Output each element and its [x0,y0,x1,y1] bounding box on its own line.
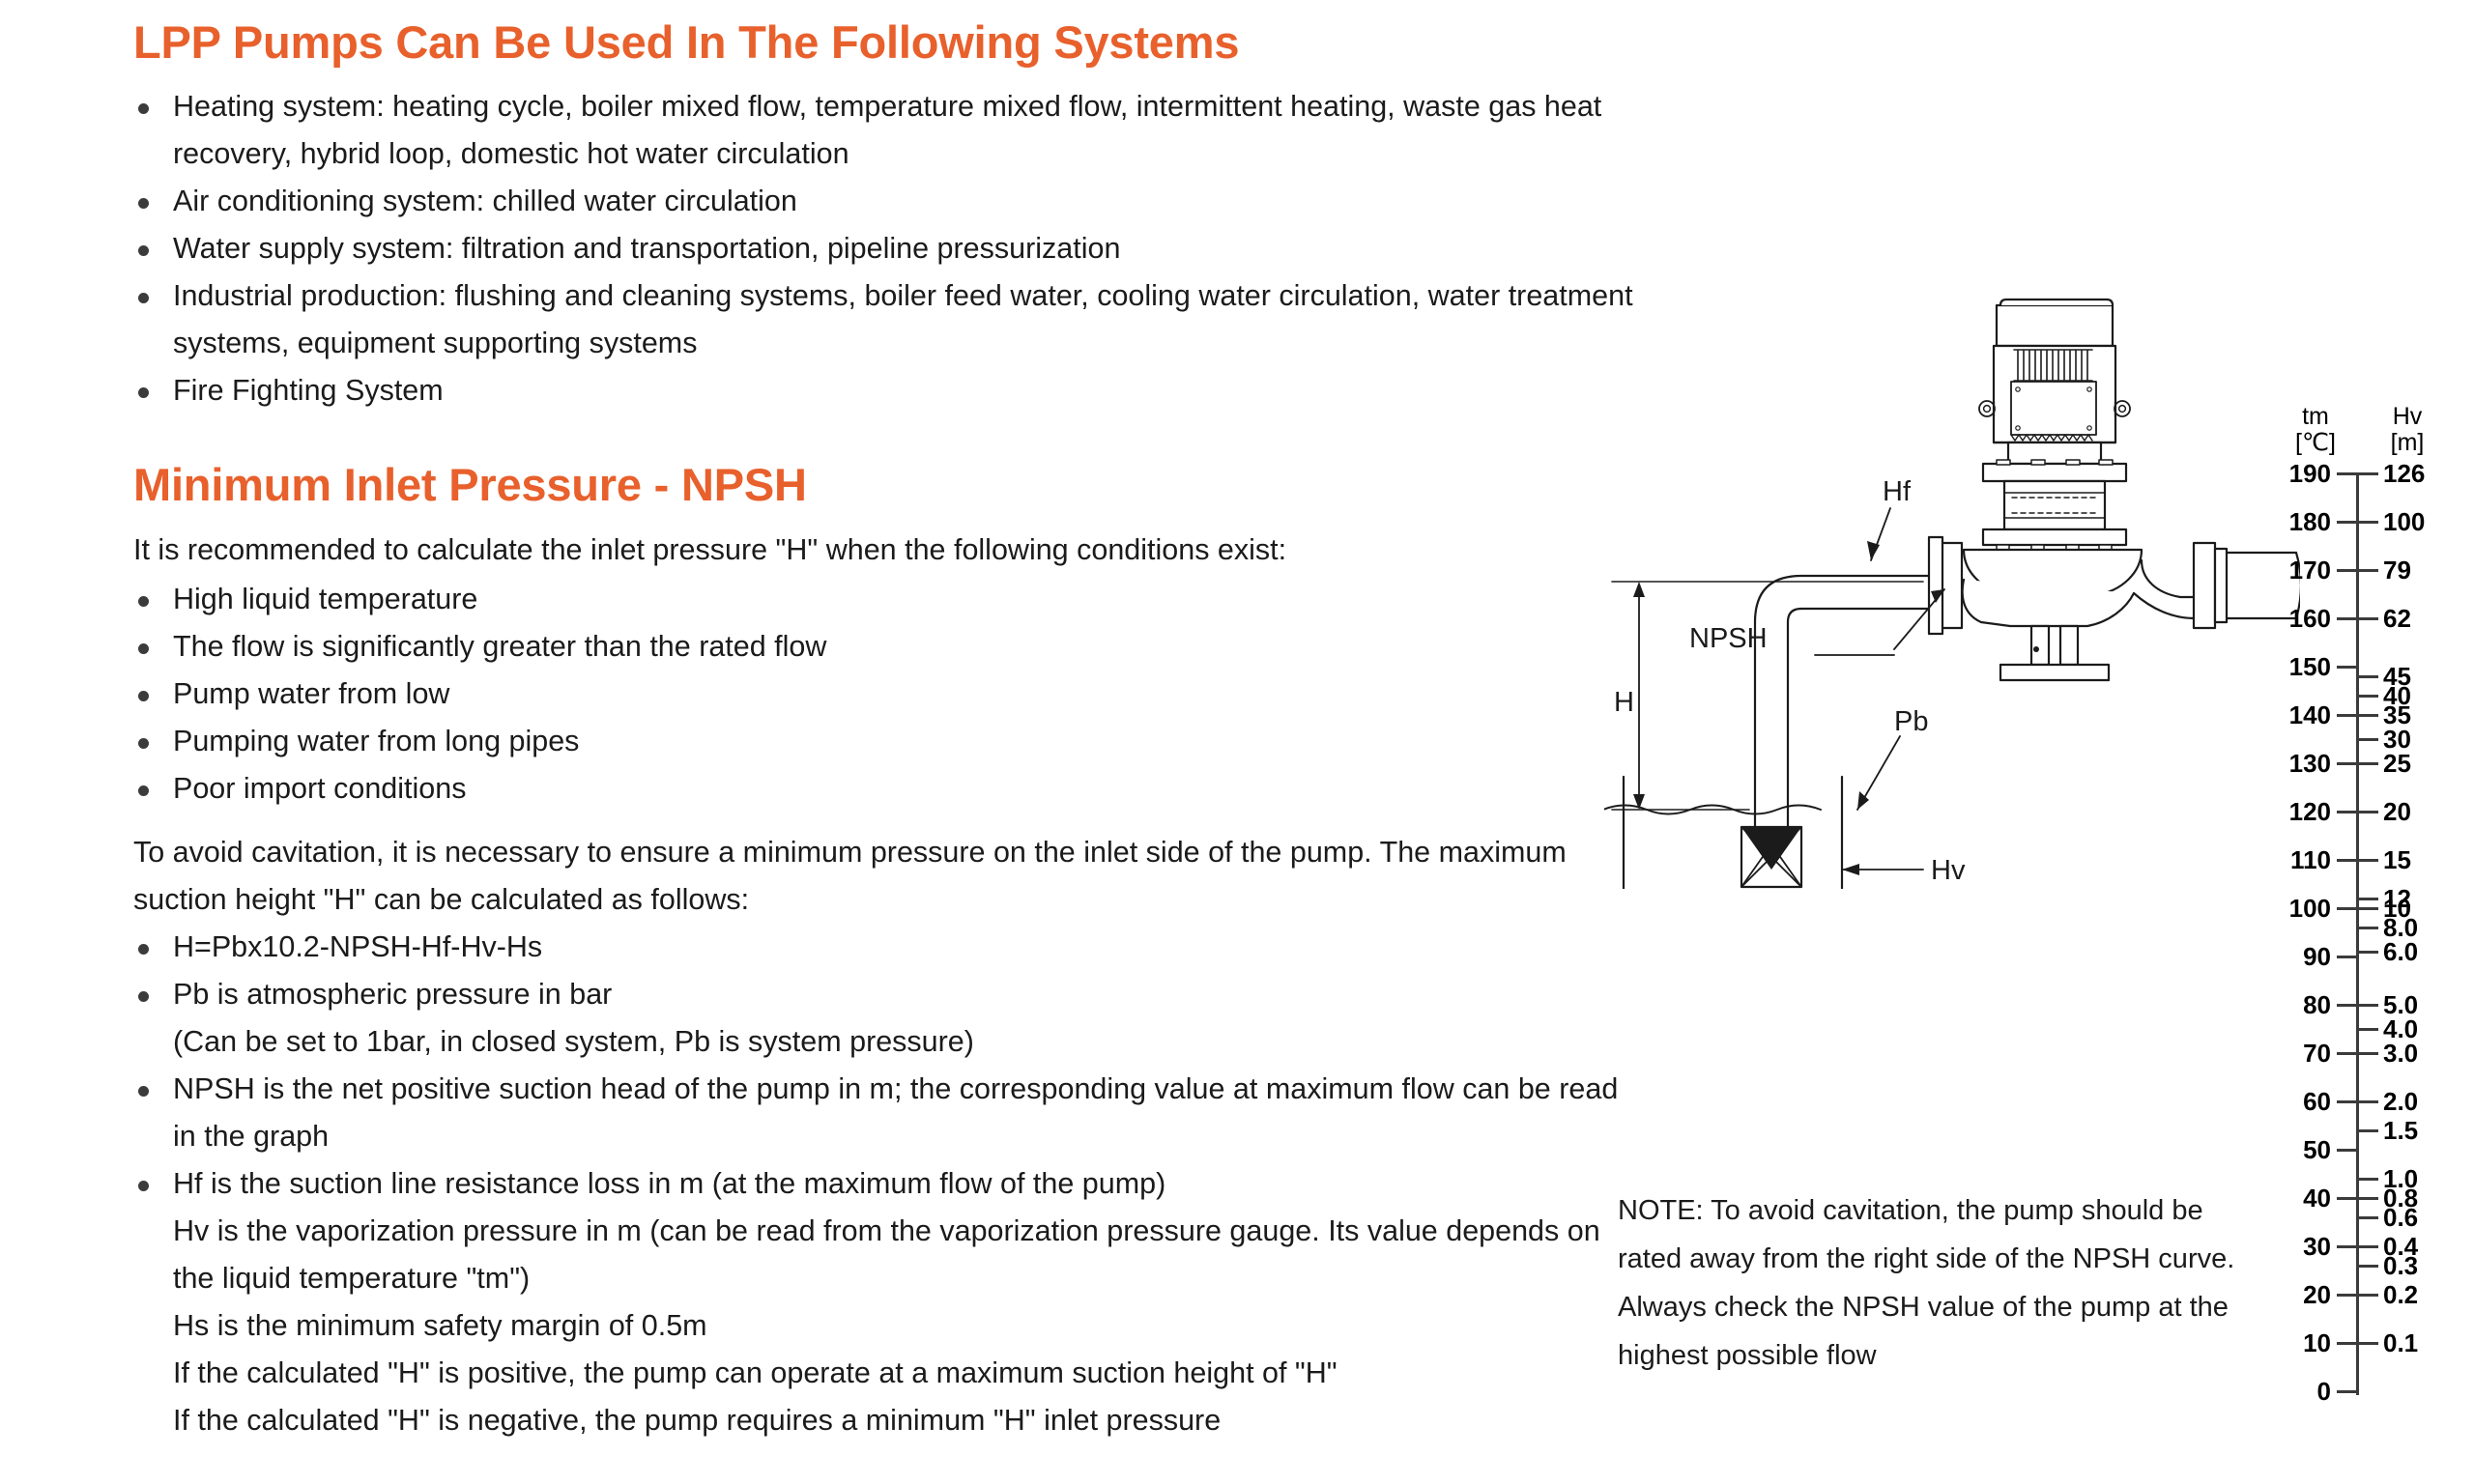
scale-tick-tm [2337,1100,2358,1103]
systems-heading: LPP Pumps Can Be Used In The Following S… [133,17,1641,68]
scale-label-tm: 70 [2303,1041,2331,1066]
bullet-text: Pumping water from long pipes [173,718,1641,765]
scale-tick-tm [2337,956,2358,958]
scale-label-hv: 126 [2383,461,2425,486]
scale-tick-tm [2337,714,2358,717]
scale-label-tm: 10 [2303,1330,2331,1356]
scale-label-tm: 180 [2289,509,2331,534]
scale-axis-line [2356,473,2359,1395]
right-illustration-panel: Hf NPSH H Pb Hv tm [℃] Hv [m] 1901801701… [1604,0,2474,1484]
scale-label-hv: 79 [2383,557,2411,583]
list-item: Air conditioning system: chilled water c… [133,178,1641,225]
scale-tick-hv [2358,762,2378,765]
scale-tick-hv [2358,907,2378,910]
formula-bullet-list: H=Pbx10.2-NPSH-Hf-Hv-Hs Pb is atmospheri… [133,924,1641,1444]
diagram-label-pb: Pb [1894,706,1928,737]
list-item: NPSH is the net positive suction head of… [133,1066,1641,1160]
scale-tick-tm [2337,1052,2358,1055]
list-item: High liquid temperature [133,576,1641,623]
scale-label-hv: 0.2 [2383,1282,2418,1307]
scale-tick-hv [2358,1178,2378,1181]
scale-tick-hv [2358,1004,2378,1007]
scale-tick-hv [2358,1100,2378,1103]
scale-tick-hv [2358,951,2378,954]
scale-label-hv: 25 [2383,751,2411,776]
list-item: Pumping water from long pipes [133,718,1641,765]
scale-label-tm: 130 [2289,751,2331,776]
bullet-text: Heating system: heating cycle, boiler mi… [173,83,1641,178]
note-text: NOTE: To avoid cavitation, the pump shou… [1618,1186,2256,1380]
list-item: Heating system: heating cycle, boiler mi… [133,83,1641,178]
scale-label-tm: 170 [2289,557,2331,583]
scale-tick-tm [2337,1149,2358,1152]
scale-tick-tm [2337,569,2358,572]
scale-tick-tm [2337,811,2358,813]
scale-tick-tm [2337,1294,2358,1297]
scale-tick-hv [2358,1052,2378,1055]
bullet-text: Fire Fighting System [173,367,1641,414]
scale-tick-tm [2337,859,2358,862]
scale-tick-hv [2358,1265,2378,1268]
list-item: Water supply system: filtration and tran… [133,225,1641,272]
npsh-conditions-list: High liquid temperature The flow is sign… [133,576,1641,813]
scale-tick-hv [2358,617,2378,620]
list-item: Pb is atmospheric pressure in bar(Can be… [133,971,1641,1066]
diagram-label-h: H [1614,687,1634,718]
scale-label-tm: 80 [2303,992,2331,1017]
scale-tick-tm [2337,1390,2358,1393]
scale-label-hv: 6.0 [2383,939,2418,964]
scale-label-hv: 15 [2383,847,2411,872]
scale-tick-hv [2358,859,2378,862]
scale-label-tm: 60 [2303,1089,2331,1114]
bullet-text: Pb is atmospheric pressure in bar(Can be… [173,971,1641,1066]
scale-tick-tm [2337,1245,2358,1248]
npsh-heading: Minimum Inlet Pressure - NPSH [133,460,1641,510]
scale-label-tm: 40 [2303,1185,2331,1211]
bullet-text: Water supply system: filtration and tran… [173,225,1641,272]
scale-label-tm: 190 [2289,461,2331,486]
scale-header-hv: Hv [m] [2373,404,2441,456]
scale-tick-tm [2337,1197,2358,1200]
scale-label-tm: 30 [2303,1234,2331,1259]
bullet-text: Air conditioning system: chilled water c… [173,178,1641,225]
scale-label-tm: 20 [2303,1282,2331,1307]
cavitation-paragraph: To avoid cavitation, it is necessary to … [133,829,1641,924]
scale-label-hv: 62 [2383,606,2411,631]
bullet-text: NPSH is the net positive suction head of… [173,1066,1641,1160]
bullet-text: High liquid temperature [173,576,1641,623]
scale-label-hv: 3.0 [2383,1041,2418,1066]
diagram-label-hv: Hv [1931,855,1966,886]
vaporization-pressure-scale: tm [℃] Hv [m] 19018017016015014013012011… [2281,404,2474,1428]
bullet-text: The flow is significantly greater than t… [173,623,1641,671]
bullet-text: Industrial production: flushing and clea… [173,272,1641,367]
scale-label-tm: 90 [2303,944,2331,969]
diagram-label-hf: Hf [1883,476,1912,507]
scale-header-tm: tm [℃] [2285,404,2346,456]
list-item: Hf is the suction line resistance loss i… [133,1160,1641,1444]
pump-system-diagram: Hf NPSH H Pb Hv [1604,290,2300,889]
document-page: LPP Pumps Can Be Used In The Following S… [0,0,2474,1484]
scale-tick-hv [2358,1028,2378,1031]
scale-tick-hv [2358,1342,2378,1345]
scale-tick-hv [2358,1129,2378,1132]
npsh-intro-text: It is recommended to calculate the inlet… [133,527,1641,574]
scale-tick-tm [2337,521,2358,524]
scale-label-tm: 50 [2303,1137,2331,1162]
scale-label-hv: 0.3 [2383,1253,2418,1278]
left-text-column: LPP Pumps Can Be Used In The Following S… [133,17,1641,1444]
diagram-label-npsh: NPSH [1689,623,1768,654]
scale-tick-hv [2358,472,2378,475]
scale-tick-tm [2337,472,2358,475]
scale-tick-hv [2358,811,2378,813]
scale-label-tm: 150 [2289,654,2331,679]
bullet-text: Hf is the suction line resistance loss i… [173,1160,1641,1444]
scale-tick-tm [2337,1004,2358,1007]
list-item: The flow is significantly greater than t… [133,623,1641,671]
bullet-text: Pump water from low [173,671,1641,718]
scale-label-hv: 1.5 [2383,1118,2418,1143]
scale-tick-hv [2358,1197,2378,1200]
scale-label-tm: 140 [2289,702,2331,728]
list-item: H=Pbx10.2-NPSH-Hf-Hv-Hs [133,924,1641,971]
scale-label-hv: 0.6 [2383,1205,2418,1230]
scale-label-hv: 2.0 [2383,1089,2418,1114]
bullet-text: Poor import conditions [173,765,1641,813]
scale-label-hv: 0.1 [2383,1330,2418,1356]
scale-label-tm: 120 [2289,799,2331,824]
scale-tick-hv [2358,898,2378,900]
scale-tick-hv [2358,927,2378,929]
systems-bullet-list: Heating system: heating cycle, boiler mi… [133,83,1641,414]
list-item: Industrial production: flushing and clea… [133,272,1641,367]
scale-tick-hv [2358,1245,2378,1248]
scale-tick-hv [2358,695,2378,698]
scale-tick-tm [2337,617,2358,620]
scale-tick-hv [2358,714,2378,717]
scale-tick-hv [2358,675,2378,678]
scale-header-hv-unit: [m] [2373,430,2441,456]
scale-tick-tm [2337,907,2358,910]
scale-tick-tm [2337,666,2358,669]
scale-label-tm: 110 [2290,847,2331,872]
scale-tick-hv [2358,521,2378,524]
list-item: Pump water from low [133,671,1641,718]
scale-tick-hv [2358,569,2378,572]
list-item: Poor import conditions [133,765,1641,813]
scale-tick-tm [2337,1342,2358,1345]
list-item: Fire Fighting System [133,367,1641,414]
scale-label-hv: 20 [2383,799,2411,824]
scale-tick-hv [2358,1216,2378,1219]
scale-header-tm-unit: [℃] [2285,430,2346,456]
scale-header-hv-name: Hv [2373,404,2441,430]
scale-tick-tm [2337,762,2358,765]
scale-tick-hv [2358,738,2378,741]
scale-label-tm: 100 [2289,896,2331,921]
scale-label-tm: 160 [2289,606,2331,631]
scale-tick-hv [2358,1294,2378,1297]
scale-label-hv: 100 [2383,509,2425,534]
bullet-text: H=Pbx10.2-NPSH-Hf-Hv-Hs [173,924,1641,971]
scale-label-tm: 0 [2317,1379,2331,1404]
scale-header-tm-name: tm [2285,404,2346,430]
